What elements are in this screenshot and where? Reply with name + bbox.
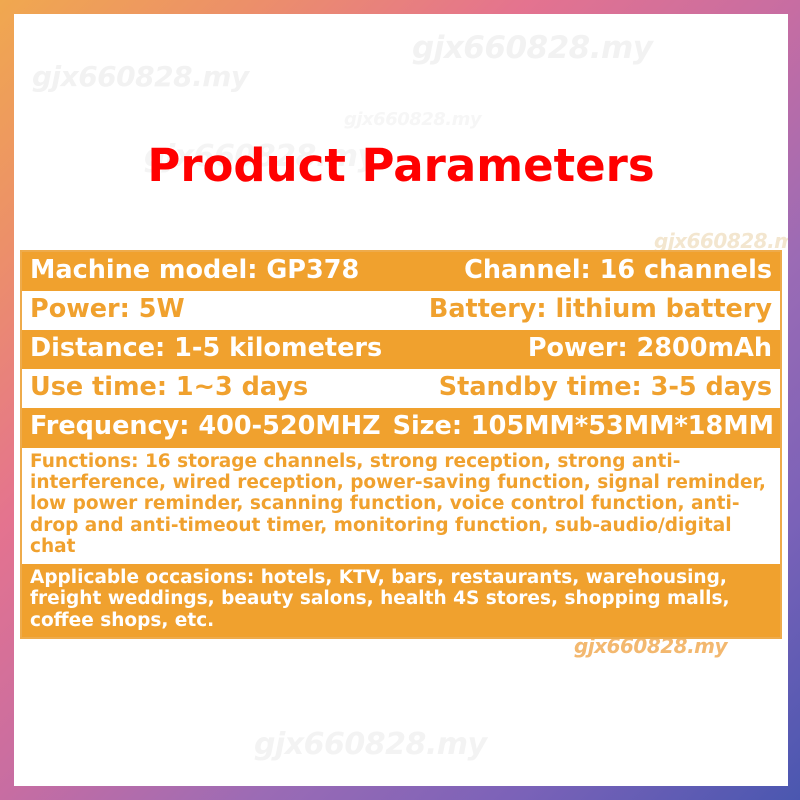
- watermark-text: gjx660828.my: [32, 60, 249, 93]
- spec-functions-block: Functions: 16 storage channels, strong r…: [22, 448, 780, 564]
- spec-label-standby-time: Standby time: 3-5 days: [439, 372, 772, 403]
- table-row: Frequency: 400-520MHZ Size: 105MM*53MM*1…: [22, 408, 780, 447]
- spec-label-power: Power: 5W: [30, 294, 185, 325]
- spec-label-battery: Battery: lithium battery: [429, 294, 772, 325]
- spec-label-machine-model: Machine model: GP378: [30, 255, 359, 286]
- product-spec-card: gjx660828.my gjx660828.my gjx660828.my g…: [0, 0, 800, 800]
- watermark-text: gjx660828.my: [344, 109, 481, 130]
- table-row: Use time: 1~3 days Standby time: 3-5 day…: [22, 369, 780, 408]
- spec-label-size: Size: 105MM*53MM*18MM: [393, 411, 774, 442]
- page-title: Product Parameters: [14, 139, 788, 192]
- spec-table: Machine model: GP378 Channel: 16 channel…: [20, 250, 782, 639]
- spec-label-power-capacity: Power: 2800mAh: [528, 333, 772, 364]
- spec-label-frequency: Frequency: 400-520MHZ: [30, 411, 381, 442]
- spec-occasions-block: Applicable occasions: hotels, KTV, bars,…: [22, 564, 780, 637]
- card-inner-surface: gjx660828.my gjx660828.my gjx660828.my g…: [14, 14, 788, 786]
- table-row: Power: 5W Battery: lithium battery: [22, 291, 780, 330]
- table-row: Distance: 1-5 kilometers Power: 2800mAh: [22, 330, 780, 369]
- table-row: Machine model: GP378 Channel: 16 channel…: [22, 252, 780, 291]
- spec-label-channel: Channel: 16 channels: [464, 255, 772, 286]
- watermark-text: gjx660828.my: [412, 30, 653, 66]
- watermark-text: gjx660828.my: [254, 727, 487, 762]
- spec-label-use-time: Use time: 1~3 days: [30, 372, 308, 403]
- spec-label-distance: Distance: 1-5 kilometers: [30, 333, 382, 364]
